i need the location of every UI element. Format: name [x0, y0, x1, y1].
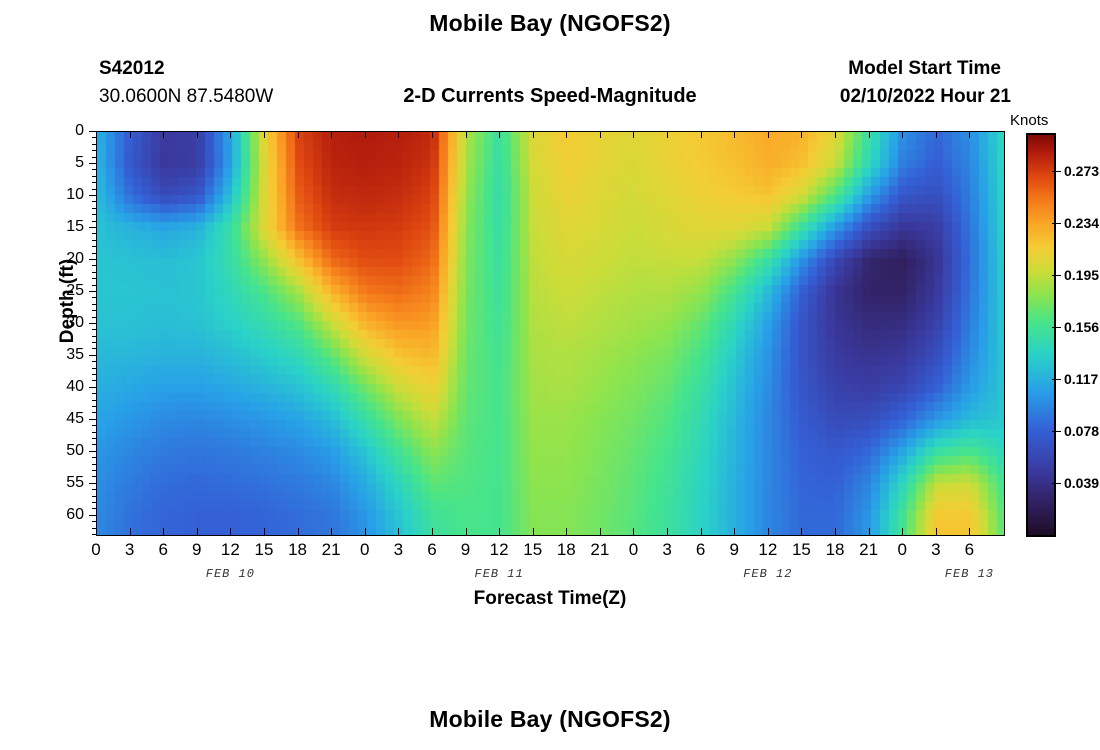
y-tick-minor [92, 489, 96, 490]
y-tick-mark [89, 515, 96, 516]
x-tick-mark-bottom [264, 528, 265, 535]
x-tick-mark-bottom [298, 528, 299, 535]
x-tick-mark [130, 131, 131, 138]
x-axis-title: Forecast Time(Z) [0, 588, 1100, 610]
y-tick-minor [92, 317, 96, 318]
y-tick-label: 5 [40, 154, 84, 172]
y-tick-minor [92, 246, 96, 247]
x-tick-mark-bottom [835, 528, 836, 535]
x-tick-mark-bottom [801, 528, 802, 535]
x-tick-mark [902, 131, 903, 138]
x-tick-mark [566, 131, 567, 138]
page-title-bottom: Mobile Bay (NGOFS2) [0, 706, 1100, 733]
y-tick-minor [92, 502, 96, 503]
y-tick-mark [89, 131, 96, 132]
y-tick-mark [89, 355, 96, 356]
y-tick-mark [89, 259, 96, 260]
x-tick-mark [432, 131, 433, 138]
y-tick-label: 20 [40, 250, 84, 268]
x-tick-mark-bottom [533, 528, 534, 535]
x-tick-mark-bottom [667, 528, 668, 535]
y-tick-minor [92, 380, 96, 381]
colorbar-title: Knots [1010, 112, 1048, 129]
x-tick-mark [230, 131, 231, 138]
y-tick-minor [92, 285, 96, 286]
x-tick-mark [667, 131, 668, 138]
x-tick-mark [298, 131, 299, 138]
x-tick-mark-bottom [969, 528, 970, 535]
y-tick-minor [92, 233, 96, 234]
colorbar [1026, 133, 1056, 537]
y-tick-label: 50 [40, 442, 84, 460]
x-tick-mark [768, 131, 769, 138]
x-axis-day-label: FEB 12 [708, 567, 828, 581]
x-tick-mark-bottom [734, 528, 735, 535]
x-tick-mark-bottom [432, 528, 433, 535]
colorbar-tick-label: 0.234 [1064, 215, 1099, 231]
y-tick-minor [92, 240, 96, 241]
y-tick-minor [92, 176, 96, 177]
x-tick-mark-bottom [768, 528, 769, 535]
x-tick-mark [163, 131, 164, 138]
colorbar-tick-label: 0.117 [1064, 371, 1098, 387]
y-tick-minor [92, 361, 96, 362]
x-tick-mark-bottom [466, 528, 467, 535]
x-tick-mark-bottom [869, 528, 870, 535]
y-tick-minor [92, 348, 96, 349]
x-tick-mark-bottom [96, 528, 97, 535]
colorbar-tick-mark [1052, 275, 1061, 276]
x-axis-day-label: FEB 13 [909, 567, 1029, 581]
y-tick-minor [92, 393, 96, 394]
y-tick-mark [89, 419, 96, 420]
y-tick-minor [92, 464, 96, 465]
heatmap-plot-area [96, 131, 1005, 536]
heatmap-canvas [97, 132, 1004, 535]
y-tick-label: 10 [40, 186, 84, 204]
y-tick-mark [89, 323, 96, 324]
y-tick-label: 45 [40, 410, 84, 428]
x-tick-mark-bottom [566, 528, 567, 535]
x-tick-mark [398, 131, 399, 138]
y-tick-minor [92, 400, 96, 401]
y-tick-minor [92, 304, 96, 305]
y-tick-minor [92, 278, 96, 279]
y-tick-minor [92, 342, 96, 343]
y-tick-label: 35 [40, 346, 84, 364]
y-tick-minor [92, 253, 96, 254]
y-tick-label: 25 [40, 282, 84, 300]
x-tick-mark [633, 131, 634, 138]
colorbar-tick-mark [1052, 483, 1061, 484]
x-tick-mark [835, 131, 836, 138]
x-axis-day-label: FEB 10 [170, 567, 290, 581]
colorbar-tick-label: 0.039 [1064, 475, 1099, 491]
y-tick-minor [92, 221, 96, 222]
colorbar-tick-label: 0.156 [1064, 319, 1099, 335]
y-tick-minor [92, 310, 96, 311]
colorbar-tick-label: 0.273 [1064, 163, 1099, 179]
y-tick-mark [89, 291, 96, 292]
y-tick-minor [92, 412, 96, 413]
y-tick-label: 60 [40, 506, 84, 524]
y-tick-label: 40 [40, 378, 84, 396]
x-tick-mark-bottom [230, 528, 231, 535]
y-tick-mark [89, 451, 96, 452]
x-tick-mark [264, 131, 265, 138]
page-title-top: Mobile Bay (NGOFS2) [0, 10, 1100, 37]
y-tick-minor [92, 182, 96, 183]
y-tick-minor [92, 297, 96, 298]
x-tick-mark-bottom [163, 528, 164, 535]
y-tick-mark [89, 483, 96, 484]
colorbar-tick-label: 0.078 [1064, 423, 1099, 439]
x-tick-mark-bottom [398, 528, 399, 535]
y-tick-minor [92, 496, 96, 497]
y-tick-minor [92, 374, 96, 375]
x-tick-mark-bottom [130, 528, 131, 535]
y-tick-label: 0 [40, 122, 84, 140]
y-tick-minor [92, 208, 96, 209]
y-tick-minor [92, 201, 96, 202]
x-tick-mark-bottom [936, 528, 937, 535]
y-tick-minor [92, 157, 96, 158]
x-tick-mark [499, 131, 500, 138]
y-tick-minor [92, 150, 96, 151]
x-tick-mark-bottom [197, 528, 198, 535]
colorbar-tick-mark [1052, 327, 1061, 328]
x-tick-mark-bottom [902, 528, 903, 535]
x-tick-mark [734, 131, 735, 138]
x-tick-mark [96, 131, 97, 138]
x-axis-day-label: FEB 11 [439, 567, 559, 581]
y-tick-minor [92, 265, 96, 266]
y-tick-minor [92, 508, 96, 509]
y-tick-minor [92, 444, 96, 445]
x-tick-mark [801, 131, 802, 138]
y-tick-label: 30 [40, 314, 84, 332]
colorbar-tick-mark [1052, 431, 1061, 432]
y-tick-minor [92, 144, 96, 145]
x-tick-mark-bottom [365, 528, 366, 535]
y-tick-minor [92, 476, 96, 477]
y-tick-minor [92, 457, 96, 458]
x-tick-mark-bottom [331, 528, 332, 535]
x-tick-mark-bottom [600, 528, 601, 535]
y-tick-mark [89, 387, 96, 388]
y-tick-minor [92, 521, 96, 522]
y-tick-mark [89, 227, 96, 228]
x-tick-mark [869, 131, 870, 138]
y-tick-label: 15 [40, 218, 84, 236]
model-start-time-value: 02/10/2022 Hour 21 [0, 86, 1011, 108]
colorbar-tick-mark [1052, 379, 1061, 380]
colorbar-canvas [1028, 135, 1054, 535]
y-tick-minor [92, 432, 96, 433]
y-tick-minor [92, 169, 96, 170]
x-tick-mark [331, 131, 332, 138]
x-tick-mark [466, 131, 467, 138]
y-tick-minor [92, 189, 96, 190]
y-tick-mark [89, 195, 96, 196]
y-tick-mark [89, 163, 96, 164]
colorbar-tick-mark [1052, 223, 1061, 224]
colorbar-tick-label: 0.195 [1064, 267, 1099, 283]
model-start-time-label: Model Start Time [0, 58, 1001, 80]
x-tick-label: 6 [949, 540, 989, 560]
x-tick-mark [197, 131, 198, 138]
x-tick-mark-bottom [633, 528, 634, 535]
y-tick-minor [92, 470, 96, 471]
x-tick-mark [365, 131, 366, 138]
y-tick-label: 55 [40, 474, 84, 492]
x-tick-mark [533, 131, 534, 138]
colorbar-tick-mark [1052, 171, 1061, 172]
y-tick-minor [92, 329, 96, 330]
y-tick-minor [92, 438, 96, 439]
x-tick-mark [701, 131, 702, 138]
y-tick-minor [92, 406, 96, 407]
x-tick-mark [969, 131, 970, 138]
x-tick-mark-bottom [499, 528, 500, 535]
y-tick-minor [92, 336, 96, 337]
y-tick-minor [92, 214, 96, 215]
y-tick-minor [92, 425, 96, 426]
y-tick-minor [92, 272, 96, 273]
x-tick-mark-bottom [701, 528, 702, 535]
y-tick-minor [92, 368, 96, 369]
x-tick-mark [600, 131, 601, 138]
x-tick-mark [936, 131, 937, 138]
